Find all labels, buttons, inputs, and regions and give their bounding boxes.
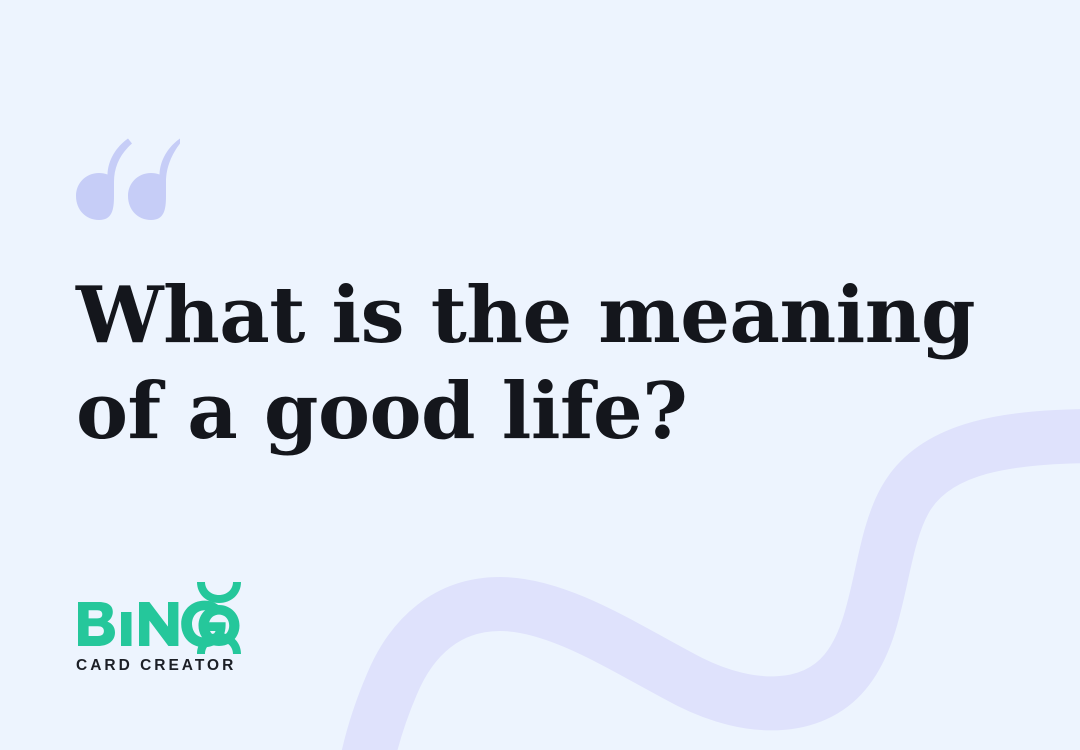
quote-glyph-right [128, 139, 180, 221]
logo-tagline: CARD CREATOR [76, 657, 236, 675]
quote-mark-icon [76, 138, 180, 220]
logo-o-arc-top [197, 582, 241, 603]
quote-glyph-left [76, 139, 132, 221]
quote-card: What is the meaning of a good life? [0, 0, 1080, 750]
brand-logo: CARD CREATOR [74, 588, 236, 675]
quote-text: What is the meaning of a good life? [76, 268, 1006, 460]
logo-letter-b [78, 602, 115, 646]
logo-letter-i [121, 612, 132, 646]
logo-letter-n [139, 602, 178, 646]
wave-path [362, 436, 1080, 750]
bingo-o-glyph-icon [192, 580, 246, 656]
